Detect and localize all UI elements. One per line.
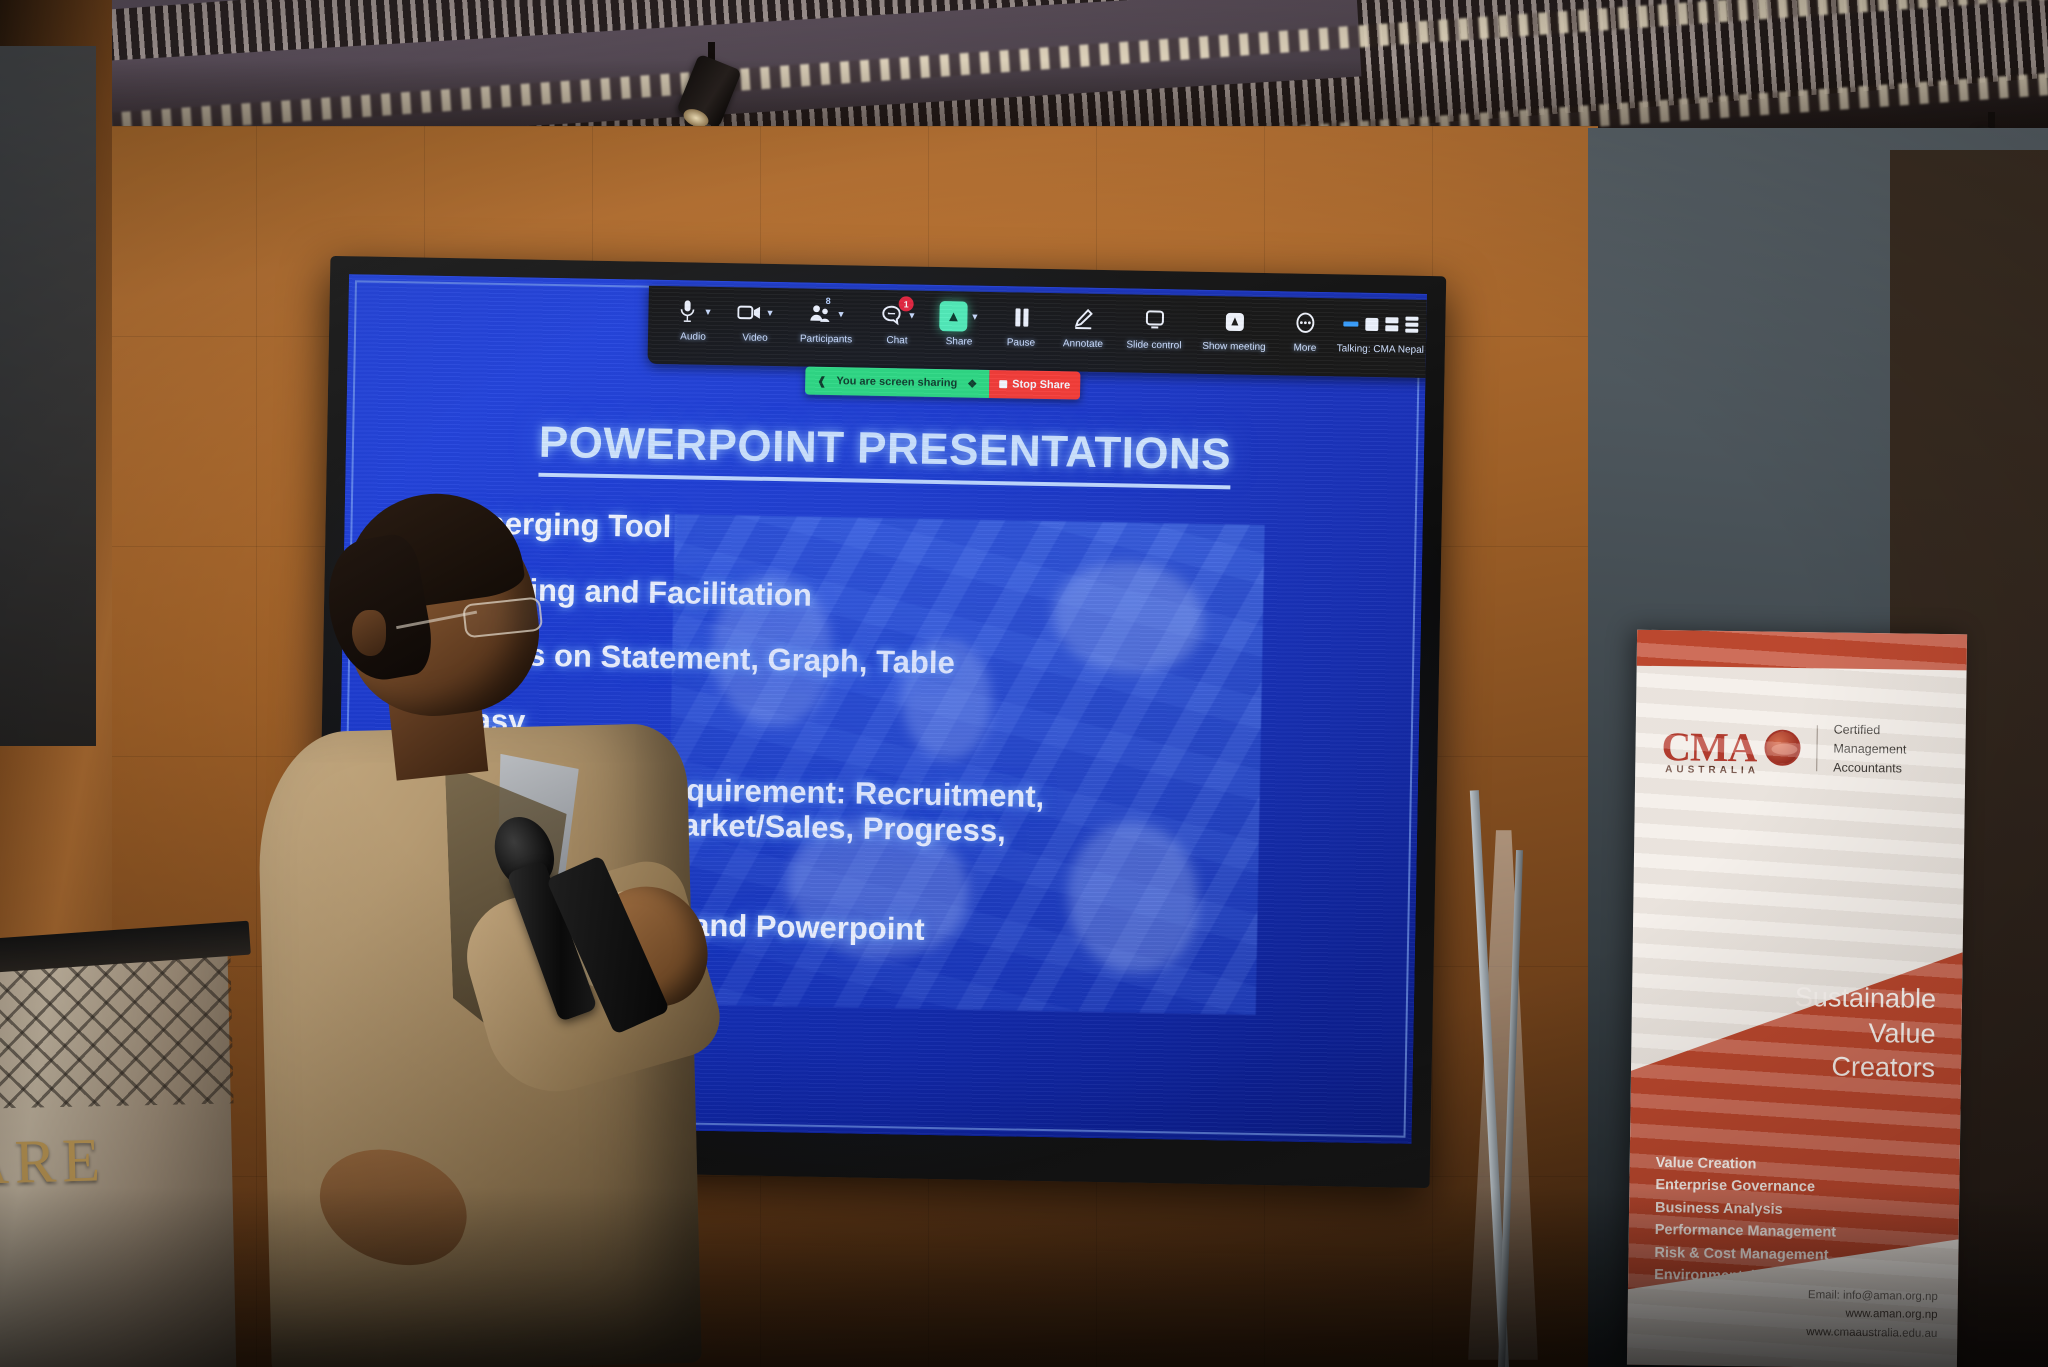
lectern-lattice-pattern bbox=[0, 953, 234, 1108]
sharing-shield-icon: ❖ bbox=[967, 377, 977, 390]
banner-headline-line1: Sustainable bbox=[1696, 979, 1936, 1017]
toolbar-label-audio: Audio bbox=[680, 331, 706, 342]
cma-logo: CMA AUSTRALIA Certified Management Accou… bbox=[1661, 718, 1907, 778]
toolbar-label-pause: Pause bbox=[1007, 337, 1036, 349]
toolbar-label-more: More bbox=[1293, 343, 1316, 354]
toolbar-button-share[interactable]: ▲ ▼ Share bbox=[928, 299, 991, 348]
chevron-down-icon[interactable]: ▼ bbox=[970, 312, 979, 321]
speaker-view-icon[interactable] bbox=[1365, 317, 1378, 330]
stop-square-icon bbox=[999, 380, 1007, 388]
banner-headline-line3: Creators bbox=[1695, 1048, 1935, 1086]
toolbar-label-video: Video bbox=[742, 332, 768, 343]
toolbar-button-pause[interactable]: Pause bbox=[990, 300, 1053, 349]
toolbar-button-annotate[interactable]: Annotate bbox=[1052, 301, 1115, 350]
show-meeting-icon bbox=[1221, 308, 1247, 334]
banner-headline: Sustainable Value Creators bbox=[1695, 979, 1936, 1086]
toolbar-button-slide-control[interactable]: Slide control bbox=[1114, 302, 1195, 351]
chevron-down-icon[interactable]: ▼ bbox=[703, 307, 712, 316]
video-camera-icon bbox=[736, 299, 762, 325]
sharing-status: ❰ You are screen sharing ❖ bbox=[805, 367, 989, 398]
banner-top-bar bbox=[1637, 630, 1967, 671]
toolbar-label-chat: Chat bbox=[886, 335, 907, 346]
logo-divider bbox=[1816, 725, 1818, 771]
stop-share-button[interactable]: Stop Share bbox=[989, 370, 1081, 400]
share-screen-icon: ▲ bbox=[939, 301, 968, 332]
toolbar-button-show-meeting[interactable]: Show meeting bbox=[1194, 304, 1275, 353]
chevron-down-icon[interactable]: ▼ bbox=[836, 310, 845, 319]
chevron-down-icon[interactable]: ▼ bbox=[765, 308, 774, 317]
toolbar-button-audio[interactable]: ▼ Audio bbox=[662, 294, 725, 343]
track-spotlight bbox=[686, 60, 732, 122]
chevron-down-icon[interactable]: ▼ bbox=[907, 311, 916, 320]
toolbar-label-show-meeting: Show meeting bbox=[1202, 341, 1266, 353]
toolbar-button-participants[interactable]: ▼ 8 Participants bbox=[786, 296, 867, 345]
microphone-icon bbox=[674, 298, 700, 324]
toolbar-label-participants: Participants bbox=[800, 333, 852, 345]
talking-status: Talking: CMA Nepal bbox=[1337, 343, 1424, 356]
list-view-icon[interactable] bbox=[1405, 317, 1418, 333]
fabric-wall-left bbox=[0, 46, 96, 746]
minimize-view-icon[interactable] bbox=[1343, 321, 1358, 326]
slide-control-icon bbox=[1141, 307, 1167, 333]
toolbar-button-chat[interactable]: ▼ 1 Chat bbox=[866, 298, 929, 347]
cma-globe-icon bbox=[1764, 730, 1800, 766]
sharing-status-text: You are screen sharing bbox=[836, 375, 957, 389]
conference-room-photo: POWERPOINT PRESENTATIONS Emerging Tool T… bbox=[0, 0, 2048, 1367]
glasses-lens bbox=[462, 596, 543, 638]
cma-tagline-line2: Management bbox=[1833, 739, 1906, 759]
cma-tagline-line1: Certified bbox=[1834, 720, 1907, 740]
toolbar-button-more[interactable]: More bbox=[1274, 305, 1337, 354]
cma-tagline: Certified Management Accountants bbox=[1833, 720, 1907, 777]
more-ellipsis-icon bbox=[1292, 309, 1318, 335]
toolbar-right-section: Talking: CMA Nepal bbox=[1337, 306, 1427, 356]
cma-region-label: AUSTRALIA bbox=[1665, 764, 1759, 776]
toolbar-label-annotate: Annotate bbox=[1063, 338, 1103, 350]
pause-icon bbox=[1008, 304, 1034, 330]
cma-tagline-line3: Accountants bbox=[1833, 758, 1906, 778]
toolbar-label-slide-control: Slide control bbox=[1126, 339, 1181, 351]
banner-headline-line2: Value bbox=[1695, 1013, 1935, 1051]
toolbar-button-video[interactable]: ▼ Video bbox=[724, 295, 787, 344]
floor-shadow bbox=[0, 1187, 2048, 1367]
pencil-icon bbox=[1070, 305, 1096, 331]
toolbar-label-share: Share bbox=[946, 336, 973, 347]
zoom-meeting-toolbar[interactable]: ▼ Audio ▼ Video bbox=[648, 286, 1427, 378]
presenter-ear bbox=[352, 610, 386, 656]
view-layout-switcher[interactable] bbox=[1343, 306, 1419, 341]
stop-share-label: Stop Share bbox=[1012, 378, 1070, 391]
gallery-view-icon[interactable] bbox=[1385, 317, 1398, 332]
screen-share-status-bar[interactable]: ❰ You are screen sharing ❖ Stop Share bbox=[805, 367, 1080, 400]
sharing-left-icon: ❰ bbox=[817, 374, 826, 387]
